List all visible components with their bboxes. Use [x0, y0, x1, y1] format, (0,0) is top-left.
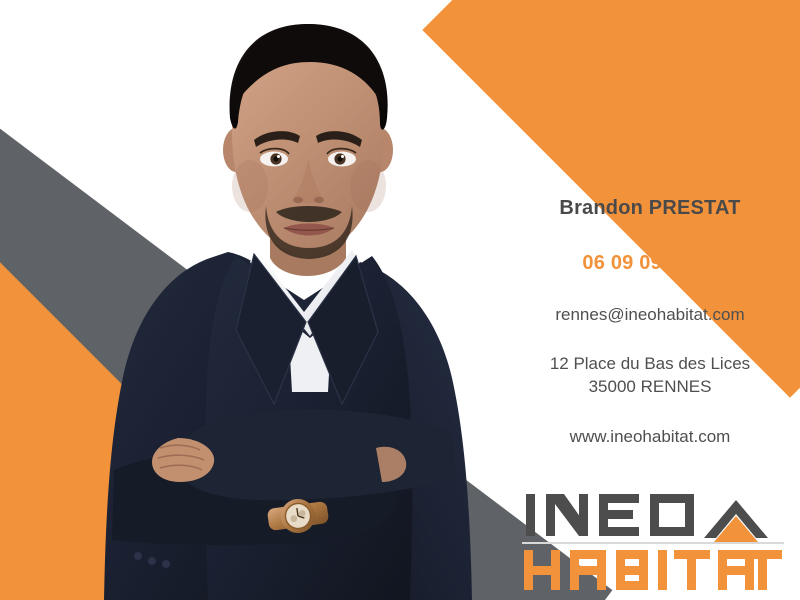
phone-number[interactable]: 06 09 09 11 38: [500, 252, 800, 275]
business-card: Brandon PRESTAT 06 09 09 11 38 rennes@in…: [0, 0, 800, 600]
ineo-habitat-logo[interactable]: [522, 488, 784, 592]
address-line-2: 35000 RENNES: [500, 376, 800, 399]
website-url[interactable]: www.ineohabitat.com: [500, 427, 800, 447]
contact-details: Brandon PRESTAT 06 09 09 11 38 rennes@in…: [500, 196, 800, 447]
logo-divider: [522, 542, 784, 544]
logo-word-ineo: [526, 494, 694, 536]
address-line-1: 12 Place du Bas des Lices: [500, 353, 800, 376]
postal-address: 12 Place du Bas des Lices 35000 RENNES: [500, 353, 800, 399]
person-name: Brandon PRESTAT: [500, 196, 800, 220]
portrait-photo: [60, 0, 500, 600]
email-address[interactable]: rennes@ineohabitat.com: [500, 305, 800, 325]
logo-word-habitat: [524, 550, 782, 590]
house-roof-icon: [704, 500, 768, 542]
